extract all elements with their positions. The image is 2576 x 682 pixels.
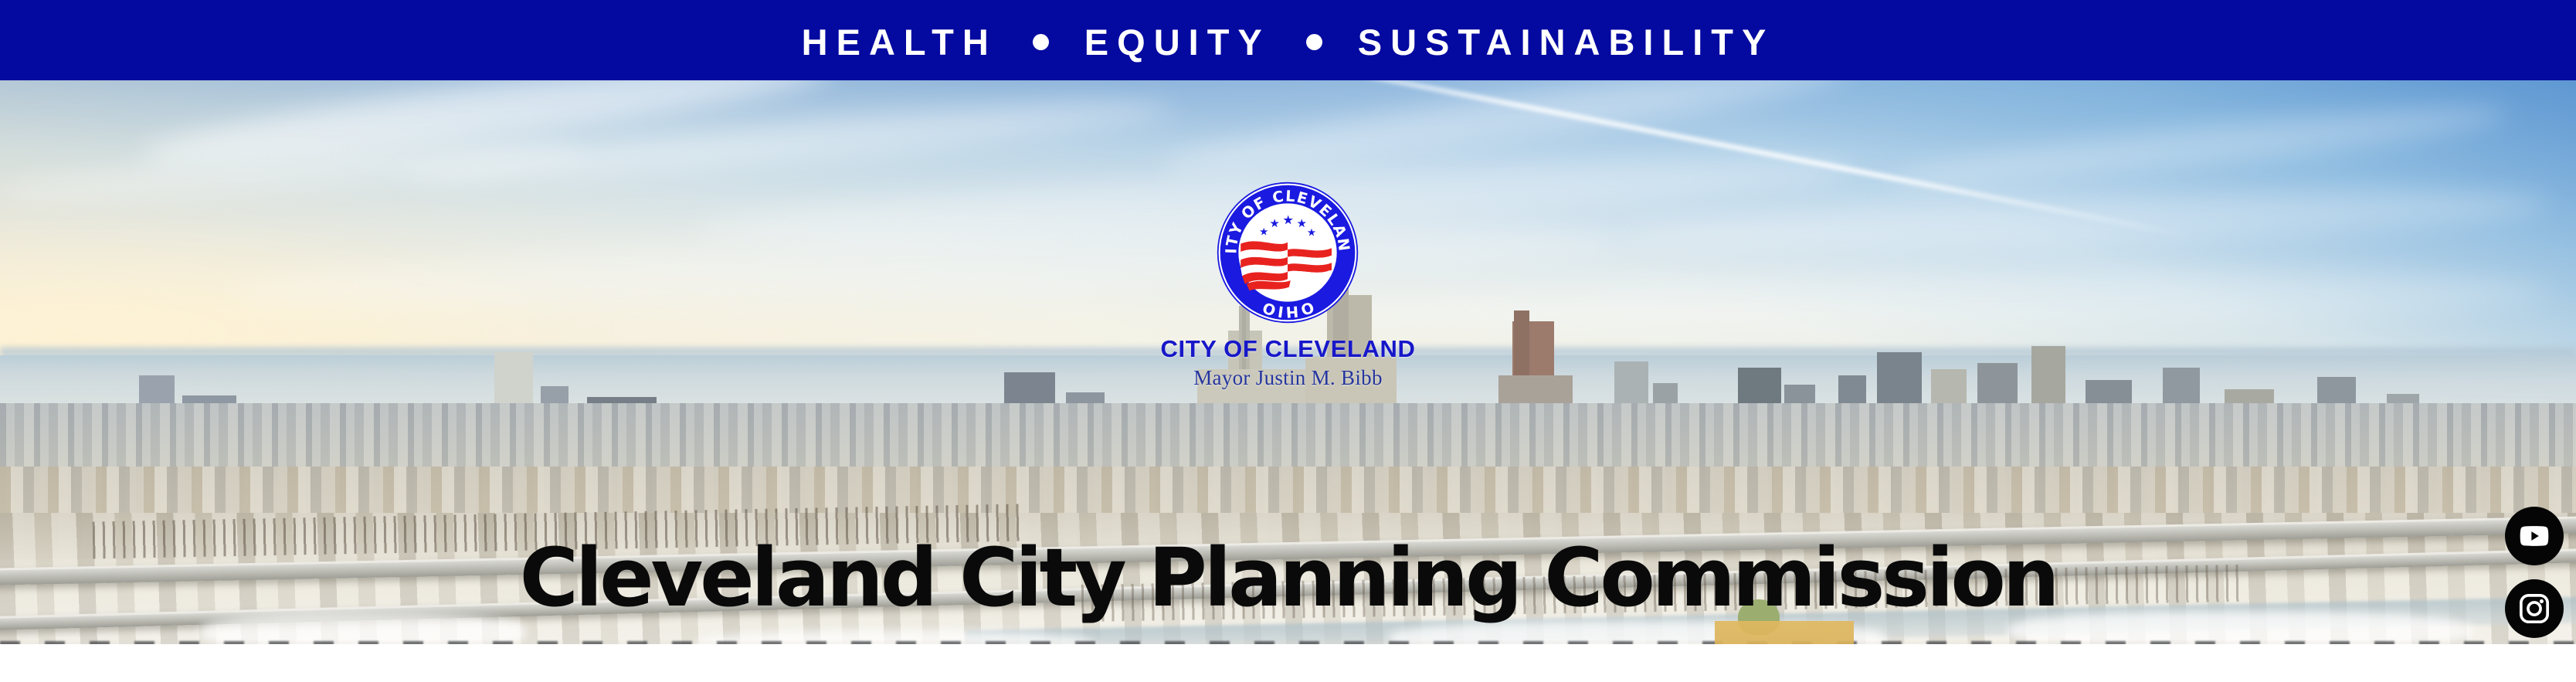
instagram-icon[interactable] [2505, 579, 2564, 638]
social-media-rail [2505, 507, 2564, 644]
tagline-word-health: HEALTH [802, 24, 997, 60]
logo-city-name: CITY OF CLEVELAND [1161, 337, 1416, 361]
hero-photo: CITY OF CLEVELAND OHIO [0, 80, 2576, 644]
tagline-word-sustainability: SUSTAINABILITY [1358, 24, 1775, 60]
bullet-dot-icon [1306, 34, 1322, 50]
city-of-cleveland-seal-icon: CITY OF CLEVELAND OHIO [1214, 179, 1361, 326]
city-logo-lockup[interactable]: CITY OF CLEVELAND OHIO [1161, 179, 1416, 389]
page-root: HEALTH EQUITY SUSTAINABILITY [0, 0, 2576, 682]
page-title: Cleveland City Planning Commission [0, 538, 2576, 618]
youtube-icon[interactable] [2505, 507, 2564, 565]
tagline-word-equity: EQUITY [1084, 24, 1271, 60]
bullet-dot-icon [1033, 34, 1049, 50]
logo-mayor-name: Mayor Justin M. Bibb [1193, 368, 1383, 389]
tagline-words: HEALTH EQUITY SUSTAINABILITY [802, 24, 1775, 60]
tagline-bar: HEALTH EQUITY SUSTAINABILITY [0, 0, 2576, 80]
bottom-white-strip [0, 644, 2576, 682]
